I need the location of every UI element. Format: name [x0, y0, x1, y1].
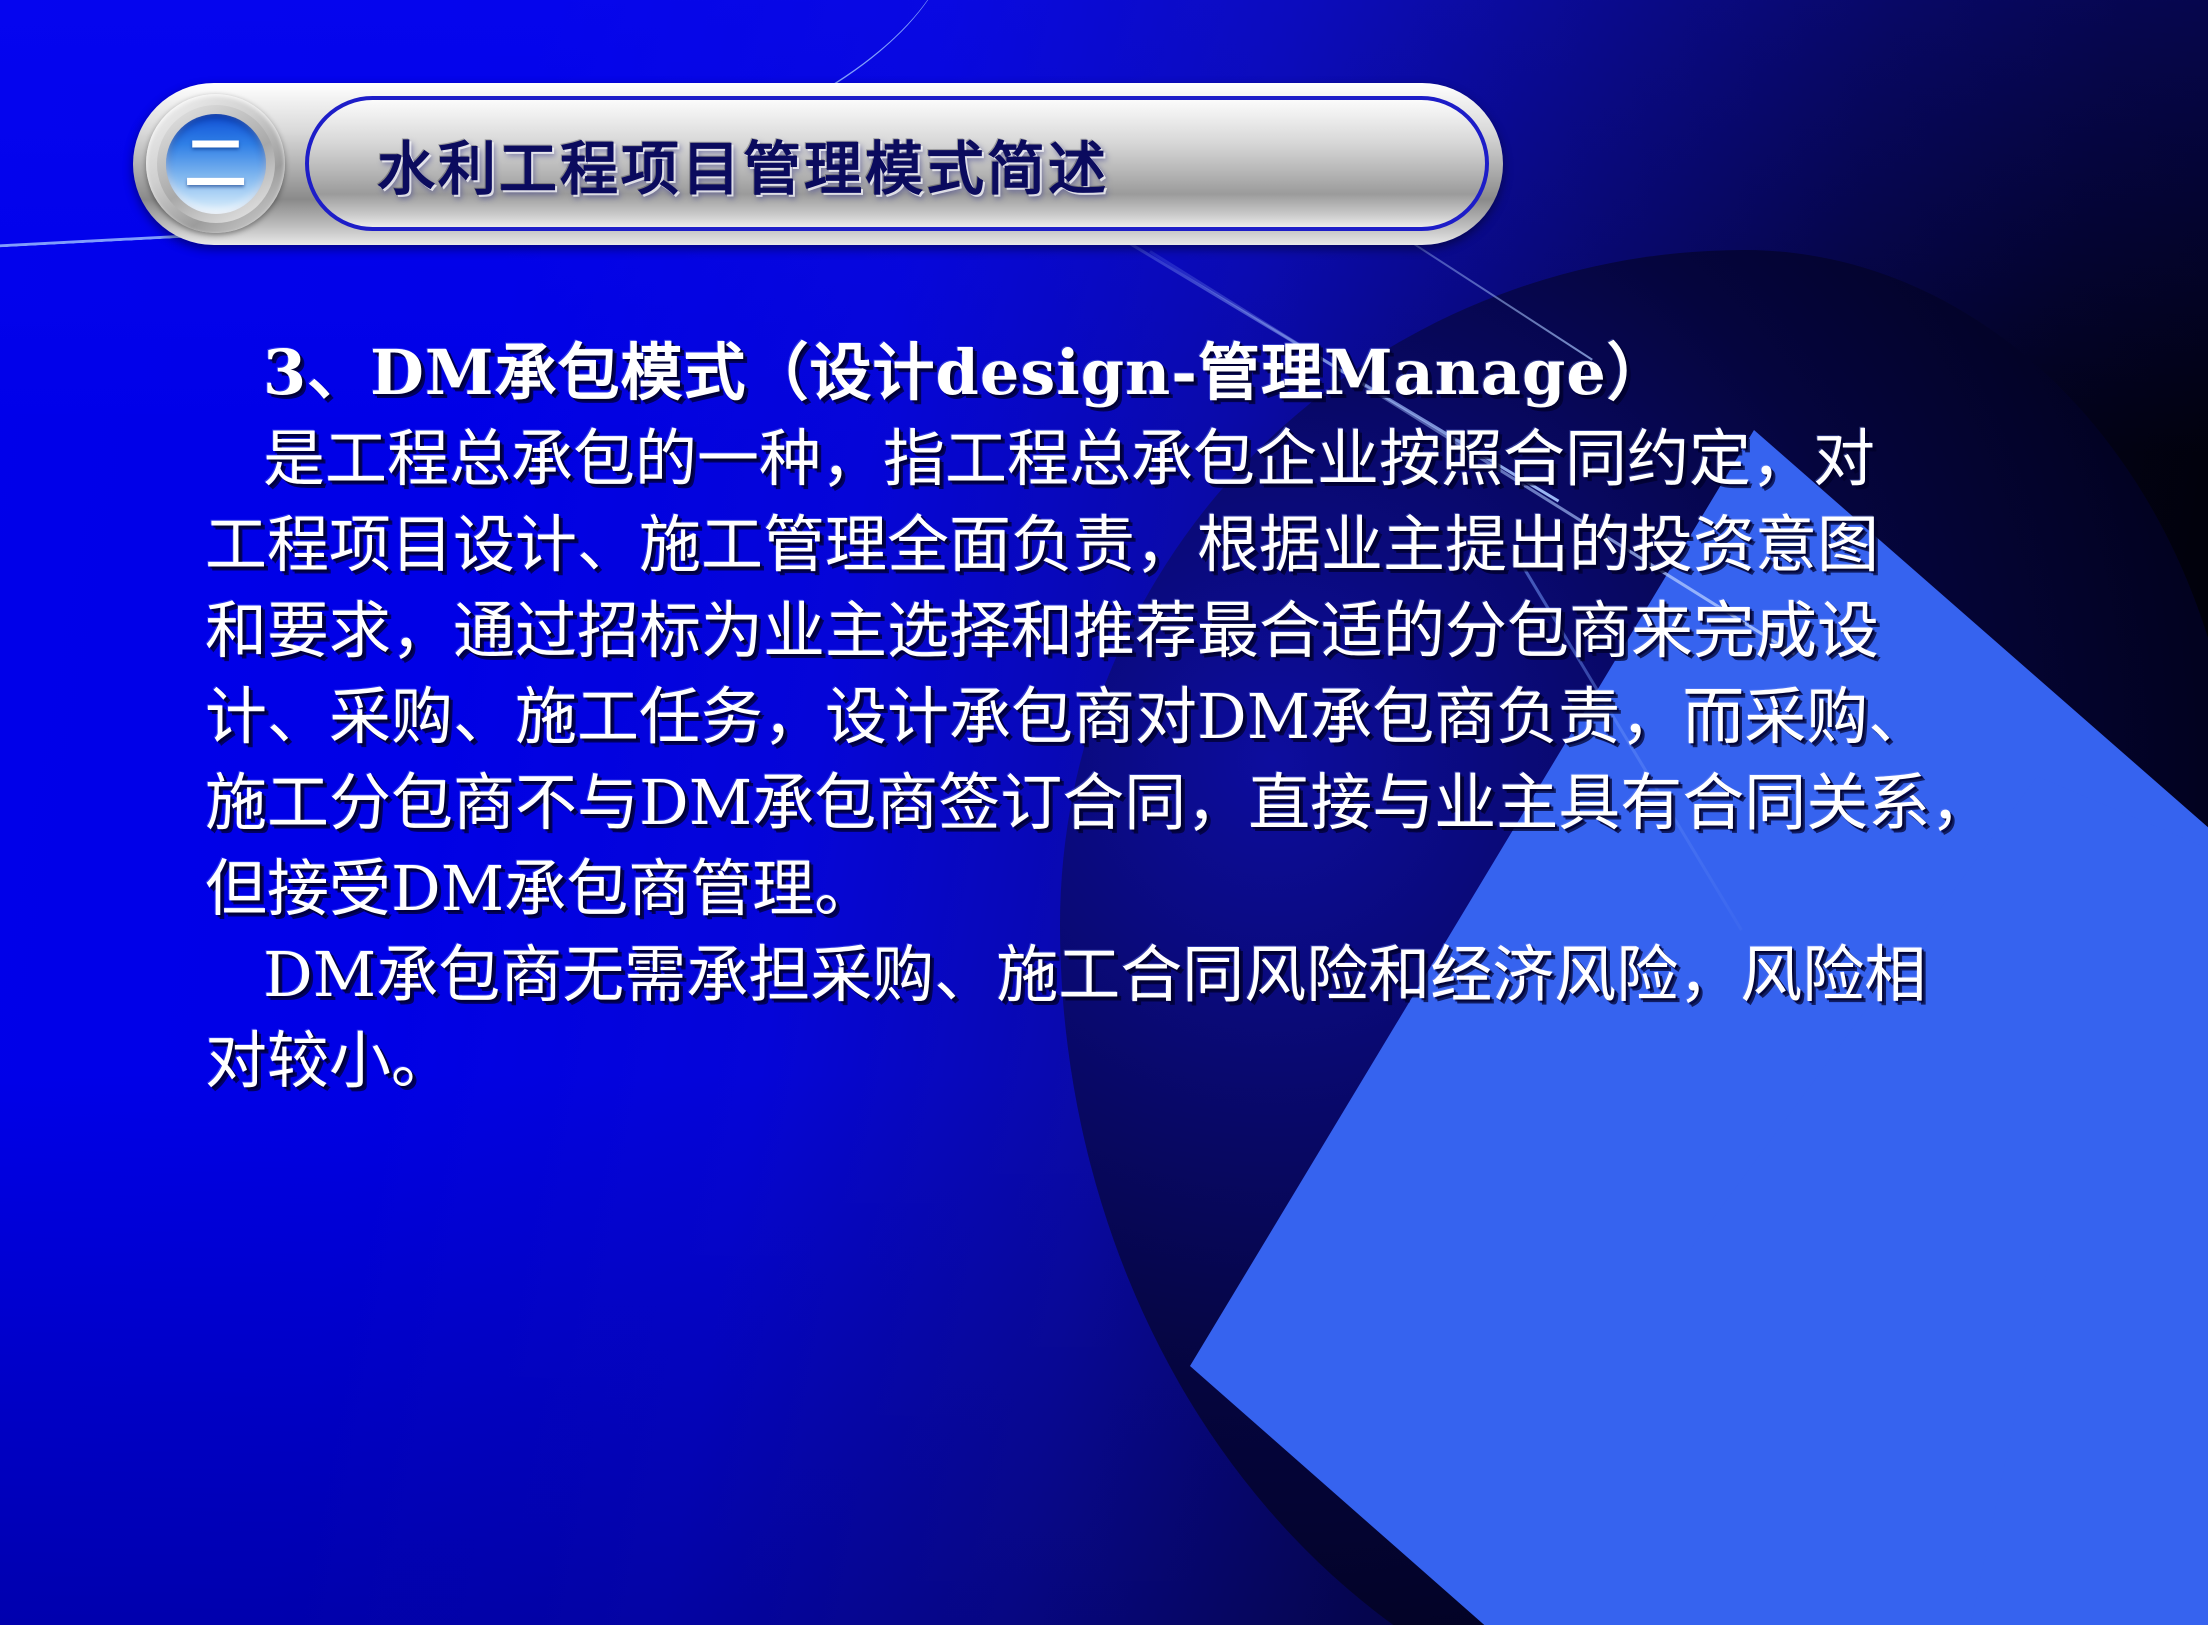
- slide-title-banner: 水利工程项目管理模式简述 二: [133, 83, 1503, 245]
- body-paragraph-1-line-3: 和要求，通过招标为业主选择和推荐最合适的分包商来完成设: [205, 588, 2085, 674]
- page-title: 水利工程项目管理模式简述: [377, 122, 1109, 206]
- body-paragraph-1-line-4: 计、采购、施工任务，设计承包商对DM承包商负责，而采购、: [205, 674, 2085, 760]
- body-heading: 3、DM承包模式（设计design-管理Manage）: [205, 330, 2085, 416]
- presentation-slide: 水利工程项目管理模式简述 二 3、DM承包模式（设计design-管理Manag…: [0, 0, 2208, 1625]
- body-paragraph-2-line-2: 对较小。: [205, 1018, 2085, 1104]
- chapter-badge-face: 二: [166, 114, 266, 214]
- title-banner-inner-plate: 水利工程项目管理模式简述: [305, 96, 1489, 231]
- chapter-badge-ring: 二: [157, 105, 275, 223]
- body-paragraph-1-line-5: 施工分包商不与DM承包商签订合同，直接与业主具有合同关系，: [205, 760, 2085, 846]
- chapter-two-badge-icon: 二: [184, 133, 246, 195]
- body-paragraph-1-line-6: 但接受DM承包商管理。: [205, 846, 2085, 932]
- body-paragraph-1-line-1: 是工程总承包的一种，指工程总承包企业按照合同约定，对: [205, 416, 2085, 502]
- chapter-badge: 二: [146, 94, 285, 233]
- body-paragraph-1-line-2: 工程项目设计、施工管理全面负责，根据业主提出的投资意图: [205, 502, 2085, 588]
- body-paragraph-2-line-1: DM承包商无需承担采购、施工合同风险和经济风险，风险相: [205, 932, 2085, 1018]
- slide-body: 3、DM承包模式（设计design-管理Manage） 是工程总承包的一种，指工…: [205, 330, 2085, 1104]
